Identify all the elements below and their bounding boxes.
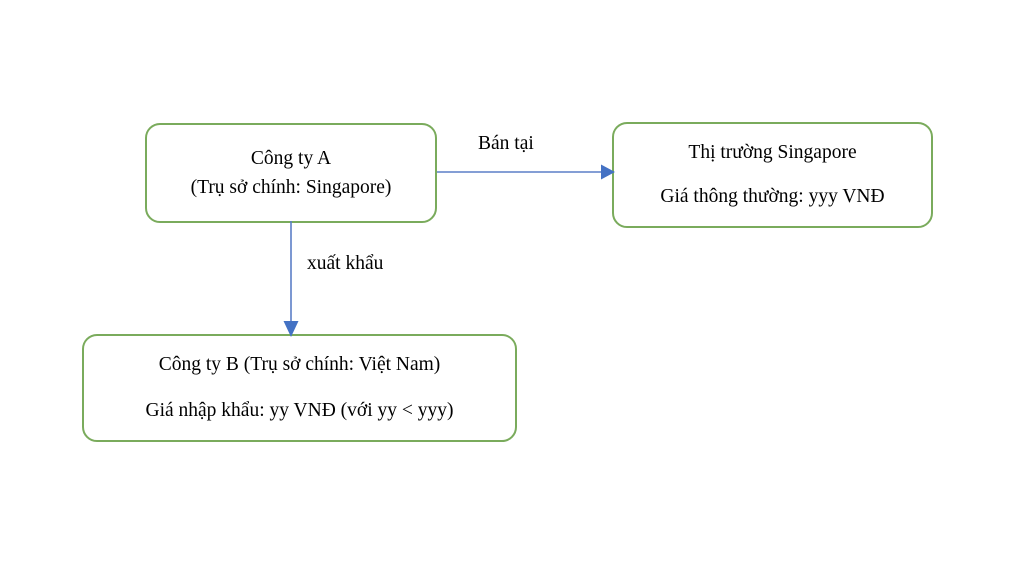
node-singapore-market-line-1: Thị trường Singapore bbox=[688, 140, 856, 166]
node-company-a-line-1: Công ty A bbox=[251, 144, 331, 173]
node-singapore-market-line-2: Giá thông thường: yyy VNĐ bbox=[660, 184, 884, 210]
node-company-b-line-1: Công ty B (Trụ sở chính: Việt Nam) bbox=[159, 352, 441, 378]
node-company-b-line-2: Giá nhập khẩu: yy VNĐ (với yy < yyy) bbox=[146, 398, 454, 424]
node-singapore-market[interactable]: Thị trường Singapore Giá thông thường: y… bbox=[612, 122, 933, 228]
node-company-a-line-2: (Trụ sở chính: Singapore) bbox=[191, 173, 392, 202]
node-company-b[interactable]: Công ty B (Trụ sở chính: Việt Nam) Giá n… bbox=[82, 334, 517, 442]
diagram-canvas: Công ty A (Trụ sở chính: Singapore) Thị … bbox=[0, 0, 1024, 576]
arrow-sell-at bbox=[437, 160, 615, 186]
node-company-a[interactable]: Công ty A (Trụ sở chính: Singapore) bbox=[145, 123, 437, 223]
edge-label-export: xuất khẩu bbox=[307, 252, 383, 275]
edge-label-sell-at: Bán tại bbox=[478, 132, 534, 155]
arrow-export bbox=[278, 221, 306, 337]
